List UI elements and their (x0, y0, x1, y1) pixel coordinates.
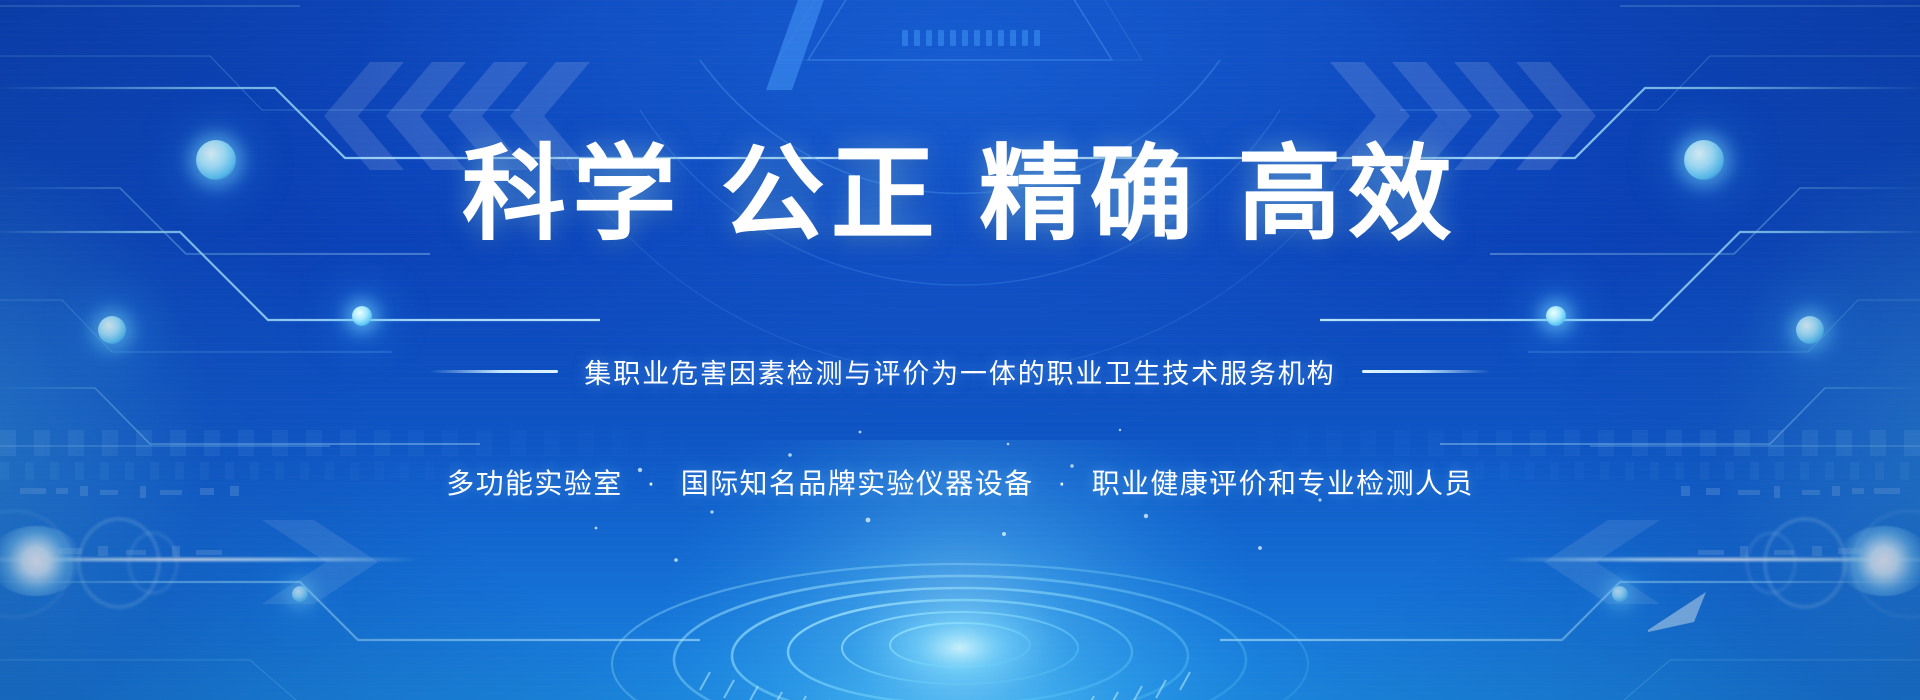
banner-subtitle-row: 集职业危害因素检测与评价为一体的职业卫生技术服务机构 (0, 352, 1920, 391)
headline-word-3: 精确 (979, 137, 1199, 253)
divider-rule-left (430, 370, 558, 373)
banner-taglines: 多功能实验室 · 国际知名品牌实验仪器设备 · 职业健康评价和专业检测人员 (0, 462, 1920, 502)
banner-content: 科学公正精确高效 集职业危害因素检测与评价为一体的职业卫生技术服务机构 多功能实… (0, 0, 1920, 700)
headline-word-1: 科学 (462, 137, 682, 253)
tagline-1: 多功能实验室 (446, 462, 622, 502)
headline-word-4: 高效 (1237, 137, 1457, 253)
banner-headline: 科学公正精确高效 (0, 140, 1920, 250)
tagline-3: 职业健康评价和专业检测人员 (1092, 462, 1474, 502)
banner-subtitle: 集职业危害因素检测与评价为一体的职业卫生技术服务机构 (584, 352, 1335, 391)
tagline-separator: · (647, 467, 657, 498)
headline-word-2: 公正 (721, 137, 941, 253)
divider-rule-right (1362, 370, 1490, 373)
hero-banner: 科学公正精确高效 集职业危害因素检测与评价为一体的职业卫生技术服务机构 多功能实… (0, 0, 1920, 700)
tagline-2: 国际知名品牌实验仪器设备 (681, 462, 1034, 502)
tagline-separator: · (1058, 467, 1068, 498)
